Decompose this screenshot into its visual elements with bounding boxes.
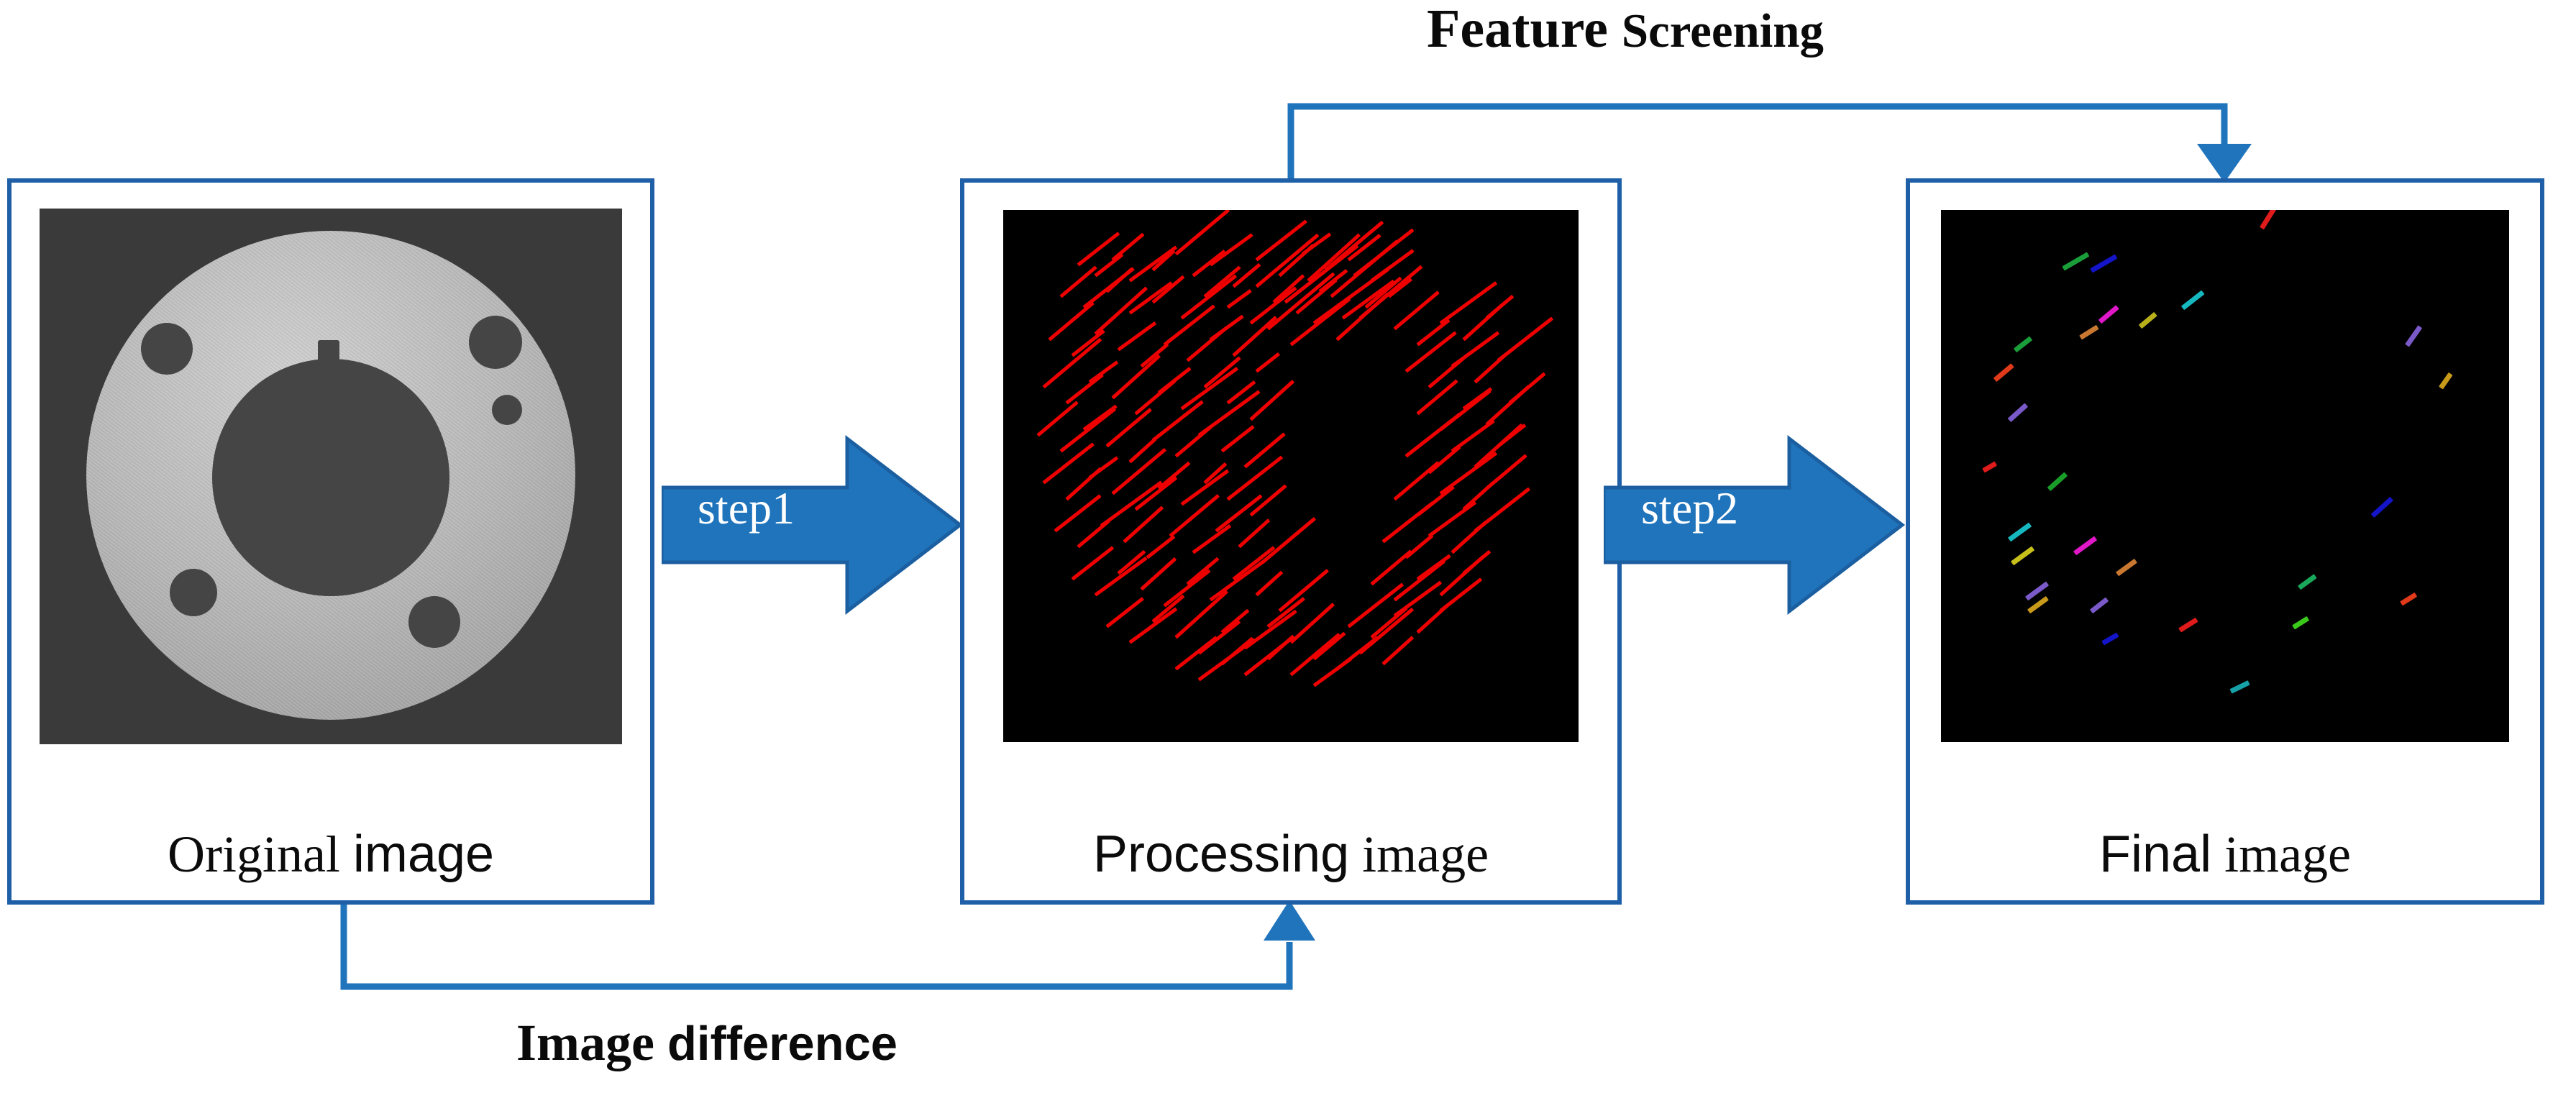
scratch-mark	[1485, 454, 1527, 490]
scratch-mark	[1358, 608, 1414, 655]
feature-segment	[2008, 523, 2032, 542]
scratch-mark	[1059, 266, 1097, 298]
feature-segment	[2439, 372, 2452, 389]
scratch-mark	[1220, 608, 1249, 634]
scratch-mark	[1312, 631, 1346, 660]
scratch-mark	[1105, 597, 1144, 628]
bolt-hole	[408, 596, 460, 648]
panel-processing-caption: Processing image	[964, 828, 1617, 880]
feature-screening-path	[1291, 106, 2224, 178]
scratch-mark	[1417, 554, 1451, 580]
image-difference-label: Image difference	[516, 1017, 898, 1069]
feature-segment	[2405, 326, 2422, 347]
scratch-mark	[1210, 233, 1253, 266]
scratch-mark	[1226, 380, 1256, 404]
feature-screening-arrowhead	[2197, 144, 2252, 183]
scratch-mark	[1232, 546, 1275, 580]
panel-final-caption: Final image	[1910, 828, 2540, 880]
panel-original-caption-part1: Original	[168, 826, 340, 883]
scratch-mark	[1381, 501, 1433, 543]
scratch-mark	[1463, 387, 1493, 410]
scratch-mark	[1140, 557, 1177, 591]
final-image	[1941, 210, 2509, 742]
feature-segment	[2229, 680, 2250, 693]
scratch-mark	[1071, 546, 1114, 580]
feature-segment	[2090, 598, 2109, 614]
final-image-background	[1941, 210, 2509, 742]
metal-flange-disc	[86, 231, 575, 720]
scratch-mark	[1036, 401, 1078, 436]
scratch-mark	[1169, 494, 1220, 537]
scratch-mark	[1118, 321, 1157, 352]
scratch-mark	[1140, 342, 1169, 367]
scratch-mark	[1278, 569, 1329, 612]
scratch-mark	[1105, 408, 1151, 447]
scratch-mark	[1393, 291, 1439, 330]
scratch-mark	[1048, 301, 1094, 341]
scratch-mark	[1451, 331, 1500, 367]
feature-segment	[2292, 616, 2309, 629]
bolt-hole	[141, 323, 193, 375]
flange-center-bore	[212, 359, 449, 596]
scratch-mark	[1095, 557, 1148, 597]
panel-processing-caption-part1: Processing	[1093, 826, 1349, 883]
scratch-mark	[1157, 461, 1190, 490]
scratch-mark	[1393, 461, 1439, 500]
feature-screening-label: Feature Screening	[1427, 1, 1824, 56]
feature-segment	[2014, 337, 2032, 353]
panel-final-caption-part2: image	[2224, 826, 2351, 883]
panel-original-caption: Original image	[12, 828, 650, 880]
scratch-mark	[1151, 275, 1184, 303]
scratch-mark	[1243, 432, 1285, 468]
feature-segment	[2181, 291, 2204, 310]
scratch-mark	[1083, 405, 1118, 431]
scratch-mark	[1485, 295, 1514, 320]
original-image	[40, 209, 622, 744]
panel-original: Original image	[7, 178, 654, 905]
scratch-mark	[1192, 523, 1232, 554]
scratch-mark	[1451, 419, 1495, 452]
scratch-mark	[1238, 518, 1270, 548]
scratch-mark	[1249, 380, 1294, 421]
bolt-hole	[469, 316, 522, 369]
scratch-mark	[1405, 534, 1433, 559]
scratch-mark	[1065, 374, 1104, 405]
scratch-mark	[1197, 620, 1241, 654]
scratch-mark	[1405, 331, 1456, 372]
image-difference-label-part2: difference	[667, 1017, 898, 1071]
image-difference-label-part1: Image	[516, 1014, 654, 1071]
bolt-hole	[170, 569, 217, 616]
panel-processing-caption-part2: image	[1362, 826, 1489, 883]
scratch-mark	[1089, 456, 1119, 479]
scratch-mark	[1289, 603, 1335, 644]
scratch-mark	[1181, 469, 1230, 506]
feature-segment	[2260, 210, 2280, 230]
feature-segment	[2138, 312, 2157, 329]
panel-final-caption-part1: Final	[2099, 826, 2211, 883]
feature-segment	[1993, 364, 2014, 383]
feature-segment	[2007, 403, 2027, 421]
scratch-mark	[1174, 210, 1230, 256]
feature-segment	[2116, 559, 2137, 576]
flange-keyway-notch	[318, 340, 339, 365]
image-difference-path	[344, 905, 1289, 987]
scratch-mark	[1220, 425, 1254, 452]
processing-image-background	[1003, 210, 1579, 742]
scratch-mark	[1203, 357, 1241, 389]
flange-edge-notch	[83, 590, 111, 615]
scratch-mark	[1370, 549, 1412, 585]
scratch-mark	[1508, 372, 1545, 405]
feature-screening-label-part1: Feature	[1427, 0, 1608, 59]
scratch-mark	[1100, 480, 1163, 527]
scratch-mark	[1123, 506, 1164, 543]
feature-segment	[2101, 633, 2119, 646]
feature-segment	[2098, 305, 2119, 324]
scratch-mark	[1129, 608, 1178, 644]
panel-final: Final image	[1906, 178, 2544, 905]
scratch-mark	[1255, 352, 1280, 373]
scratch-mark	[1180, 274, 1237, 319]
scratch-mark	[1381, 636, 1414, 665]
feature-segment	[2178, 618, 2198, 633]
feature-segment	[2079, 325, 2098, 340]
scratch-mark	[1146, 535, 1175, 559]
feature-segment	[2062, 252, 2089, 270]
scratch-mark	[1054, 494, 1101, 532]
scratch-mark	[1186, 557, 1219, 586]
feature-segment	[2371, 497, 2393, 518]
step1-label: step1	[698, 485, 795, 531]
scratch-mark	[1089, 360, 1119, 383]
scratch-mark	[1428, 501, 1477, 538]
feature-segment	[2400, 593, 2417, 605]
feature-segment	[2298, 574, 2316, 590]
scratch-mark	[1266, 634, 1294, 660]
scratch-mark	[1163, 569, 1210, 607]
scratch-mark	[1174, 636, 1218, 671]
scratch-mark	[1261, 517, 1316, 564]
scratch-mark	[1255, 570, 1283, 596]
feature-segment	[2073, 536, 2097, 555]
feature-segment	[2027, 596, 2049, 613]
scratch-mark	[1210, 314, 1244, 341]
scratch-mark	[1151, 594, 1184, 623]
scratch-mark	[1071, 329, 1105, 357]
feature-segment	[2091, 255, 2118, 273]
scratch-mark	[1157, 367, 1191, 394]
processing-image	[1003, 210, 1579, 742]
image-difference-arrowhead	[1264, 900, 1315, 941]
scratch-mark	[1497, 317, 1553, 362]
feature-segment	[2047, 472, 2068, 491]
scratch-mark	[1416, 379, 1458, 415]
feature-segment	[1983, 461, 1998, 472]
scratch-mark	[1227, 289, 1252, 309]
step2-label: step2	[1641, 485, 1738, 531]
scratch-mark	[1462, 550, 1491, 575]
scratch-mark	[1220, 637, 1253, 666]
panel-processing: Processing image	[960, 178, 1622, 905]
scratch-mark	[1439, 577, 1482, 612]
feature-screening-label-part2: Screening	[1622, 4, 1824, 58]
small-hole	[492, 395, 522, 425]
feature-segment	[2011, 546, 2034, 566]
scratch-mark	[1111, 355, 1161, 400]
figure-canvas: Feature Screening Image difference Origi…	[0, 0, 2576, 1093]
scratch-mark	[1497, 424, 1526, 447]
panel-original-caption-part2: image	[353, 826, 494, 883]
